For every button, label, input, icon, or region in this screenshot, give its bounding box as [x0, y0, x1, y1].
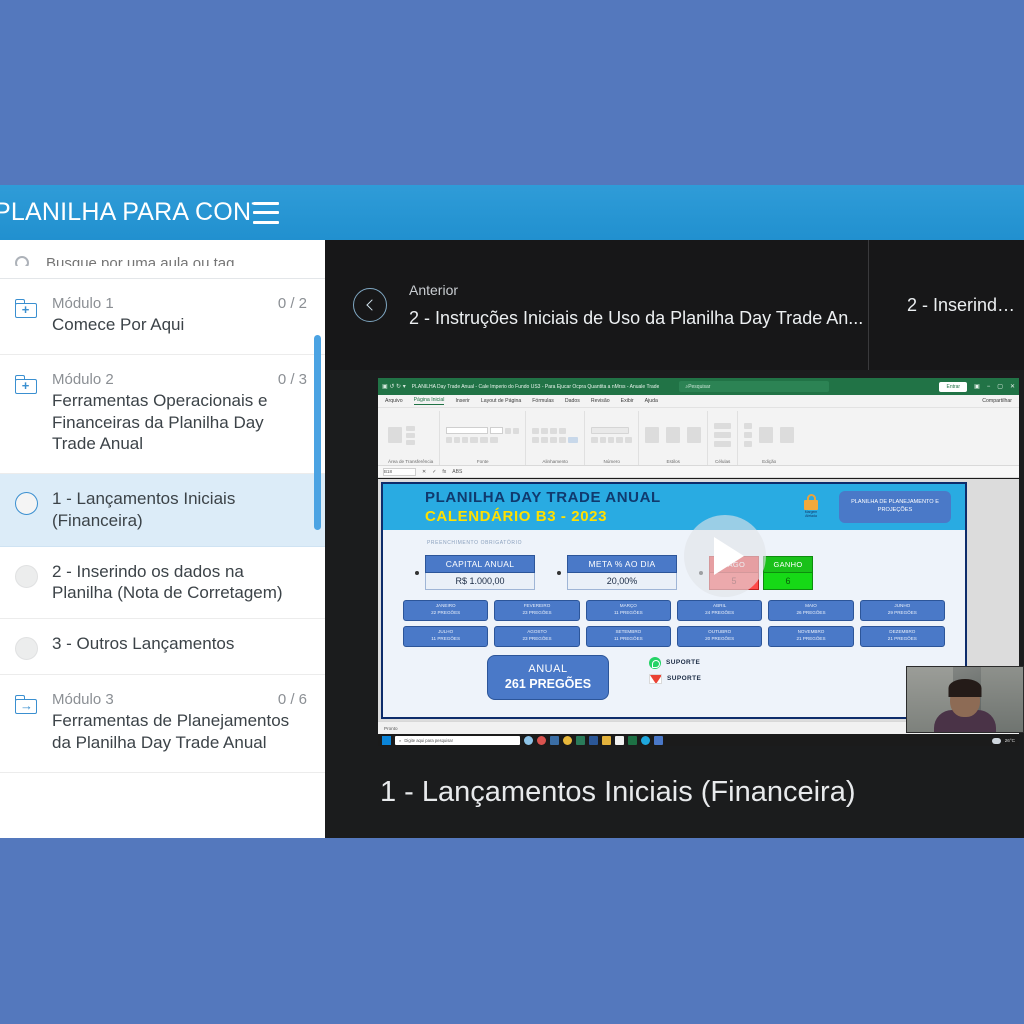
- fill-color-icon[interactable]: [480, 437, 488, 443]
- month-sessions: 21 PREGÕES: [769, 636, 852, 643]
- search-icon: ⌕: [399, 738, 401, 743]
- group-label: Área de Transferência: [388, 459, 433, 465]
- format-painter-icon[interactable]: [406, 440, 415, 445]
- share-button[interactable]: Compartilhar: [982, 398, 1012, 404]
- module-label: Módulo 2: [52, 371, 114, 388]
- module-count: 0 / 2: [270, 295, 307, 312]
- decrease-decimal-icon[interactable]: [625, 437, 632, 443]
- support-label: SUPORTE: [666, 659, 700, 666]
- spreadsheet-title: PLANILHA DAY TRADE ANUAL: [425, 489, 801, 506]
- group-label: Alinhamento: [532, 459, 578, 465]
- quick-access-toolbar[interactable]: ▣ ↺ ↻ ▾: [382, 383, 406, 390]
- sort-filter-icon[interactable]: [759, 427, 773, 443]
- previous-label: Anterior: [409, 282, 863, 298]
- kpi-value: 20,00%: [567, 573, 677, 590]
- group-label: Fonte: [446, 459, 519, 465]
- month-grid: JANEIRO22 PREGÕES FEVEREIRO23 PREGÕES MA…: [397, 600, 951, 647]
- lesson-title-heading: 1 - Lançamentos Iniciais (Financeira): [325, 746, 1024, 838]
- module-title: Comece Por Aqui: [52, 314, 307, 336]
- sidebar-panel: PLANILHA PARA CONTI + Módulo 1 0 / 2: [0, 185, 325, 838]
- lock-icon: Margem Afetada: [801, 494, 821, 520]
- month-name: JANEIRO: [404, 603, 487, 610]
- taskbar-search-input[interactable]: ⌕ Digite aqui para pesquisar: [395, 736, 520, 745]
- signin-button[interactable]: Entrar: [939, 382, 967, 392]
- gmail-icon: [649, 674, 662, 684]
- month-box: FEVEREIRO23 PREGÕES: [494, 600, 579, 621]
- spreadsheet-dashboard: PLANILHA DAY TRADE ANUAL CALENDÁRIO B3 -…: [381, 482, 967, 719]
- module-count: 0 / 6: [270, 691, 307, 708]
- previous-lesson-title: 2 - Instruções Iniciais de Uso da Planil…: [409, 308, 863, 329]
- kpi-label: CAPITAL ANUAL: [425, 555, 535, 573]
- circle-icon: [0, 561, 52, 588]
- month-sessions: 23 PREGÕES: [495, 610, 578, 617]
- cloud-icon: [992, 738, 1001, 744]
- cut-icon[interactable]: [406, 426, 415, 431]
- bullet-icon: [415, 571, 419, 575]
- explorer-pin-icon[interactable]: [550, 736, 559, 745]
- ribbon-group-alignment[interactable]: Alinhamento: [526, 411, 585, 465]
- ribbon-group-editing[interactable]: Edição: [738, 411, 800, 465]
- sidebar-lesson-3[interactable]: 3 - Outros Lançamentos: [0, 619, 325, 675]
- month-name: ABRIL: [678, 603, 761, 610]
- align-top-icon[interactable]: [532, 428, 539, 434]
- ribbon-group-clipboard[interactable]: Área de Transferência: [382, 411, 440, 465]
- annual-label: ANUAL: [488, 663, 608, 675]
- ribbon-group-cells[interactable]: Células: [708, 411, 738, 465]
- align-middle-icon[interactable]: [541, 428, 548, 434]
- month-name: DEZEMBRO: [861, 629, 944, 636]
- status-text: Pronto: [384, 726, 398, 731]
- month-name: NOVEMBRO: [769, 629, 852, 636]
- group-label: Estilos: [645, 459, 701, 465]
- month-sessions: 11 PREGÕES: [404, 636, 487, 643]
- group-label: Edição: [744, 459, 794, 465]
- group-label: Número: [591, 459, 632, 465]
- excel-search-placeholder: Pesquisar: [688, 384, 710, 390]
- format-as-table-icon[interactable]: [666, 427, 680, 443]
- formula-input[interactable]: ABS: [452, 469, 462, 475]
- month-name: AGOSTO: [495, 629, 578, 636]
- support-label: SUPORTE: [667, 675, 701, 682]
- enter-icon[interactable]: ✓: [432, 469, 436, 475]
- excel-taskbar-icon[interactable]: [576, 736, 585, 745]
- planning-button[interactable]: PLANILHA DE PLANEJAMENTO E PROJEÇÕES: [839, 491, 951, 523]
- lesson-title: 3 - Outros Lançamentos: [52, 633, 307, 655]
- previous-lesson-button[interactable]: Anterior 2 - Instruções Iniciais de Uso …: [325, 240, 869, 370]
- month-name: OUTUBRO: [678, 629, 761, 636]
- gmail-support-link[interactable]: SUPORTE: [649, 674, 701, 684]
- kpi-label: GANHO: [763, 556, 813, 573]
- module-title: Ferramentas de Planejamentos da Planilha…: [52, 710, 307, 754]
- whatsapp-icon: [649, 657, 661, 669]
- tab-inserir[interactable]: Inserir: [455, 398, 469, 404]
- lesson-title: 2 - Inserindo os dados na Planilha (Nota…: [52, 561, 307, 605]
- font-size-input[interactable]: [490, 427, 503, 434]
- bullet-icon: [557, 571, 561, 575]
- excel-formula-bar[interactable]: B18 ✕ ✓ fx ABS: [378, 466, 1019, 478]
- next-lesson-button[interactable]: 2 - Inserindo os: [869, 240, 1024, 370]
- tab-formulas[interactable]: Fórmulas: [532, 398, 554, 404]
- merge-cells-icon[interactable]: [568, 437, 578, 443]
- module-count: 0 / 3: [270, 371, 307, 388]
- italic-icon[interactable]: [454, 437, 460, 443]
- month-box: NOVEMBRO21 PREGÕES: [768, 626, 853, 647]
- insert-function-icon[interactable]: fx: [442, 469, 446, 475]
- percent-icon[interactable]: [600, 437, 606, 443]
- course-player-window: PLANILHA PARA CONTI + Módulo 1 0 / 2: [0, 185, 1024, 838]
- whatsapp-support-link[interactable]: SUPORTE: [649, 657, 701, 669]
- format-cells-icon[interactable]: [714, 441, 731, 447]
- excel-ribbon-tabs[interactable]: Arquivo Página Inicial Inserir Layout de…: [378, 395, 1019, 408]
- folder-taskbar-icon[interactable]: [602, 736, 611, 745]
- month-name: MARÇO: [587, 603, 670, 610]
- align-left-icon[interactable]: [532, 437, 539, 443]
- month-sessions: 24 PREGÕES: [678, 610, 761, 617]
- kpi-value: R$ 1.000,00: [425, 573, 535, 590]
- insert-cells-icon[interactable]: [714, 423, 731, 429]
- system-tray[interactable]: 26°C: [992, 738, 1015, 744]
- store-icon[interactable]: [654, 736, 663, 745]
- number-format-select[interactable]: [591, 427, 629, 434]
- month-box: SETEMBRO11 PREGÕES: [586, 626, 671, 647]
- month-sessions: 20 PREGÕES: [678, 636, 761, 643]
- tab-layout-de-pagina[interactable]: Layout de Página: [481, 398, 521, 404]
- annual-value: 261 PREGÕES: [488, 677, 608, 691]
- month-sessions: 26 PREGÕES: [769, 610, 852, 617]
- delete-cells-icon[interactable]: [714, 432, 731, 438]
- kpi-ganho: GANHO 6: [763, 556, 813, 590]
- ribbon-group-font[interactable]: Fonte: [440, 411, 526, 465]
- spreadsheet-header: PLANILHA DAY TRADE ANUAL CALENDÁRIO B3 -…: [383, 484, 965, 530]
- month-name: MAIO: [769, 603, 852, 610]
- name-box[interactable]: B18: [383, 468, 416, 476]
- autosum-icon[interactable]: [744, 423, 752, 429]
- lesson-navigation: Anterior 2 - Instruções Iniciais de Uso …: [325, 240, 1024, 370]
- circle-icon: [0, 633, 52, 660]
- webcam-overlay: [906, 666, 1024, 733]
- excel-titlebar: ▣ ↺ ↻ ▾ PLANILHA Day Trade Anual - Cale …: [378, 378, 1019, 395]
- align-center-icon[interactable]: [541, 437, 548, 443]
- word-taskbar-icon[interactable]: [589, 736, 598, 745]
- pdf-taskbar-icon[interactable]: [615, 736, 624, 745]
- module-label: Módulo 3: [52, 691, 114, 708]
- close-icon[interactable]: ✕: [1010, 383, 1015, 390]
- weather-widget-icon[interactable]: [524, 736, 533, 745]
- kpi-value: 6: [763, 573, 813, 590]
- align-bottom-icon[interactable]: [550, 428, 557, 434]
- month-box: OUTUBRO20 PREGÕES: [677, 626, 762, 647]
- annual-total-box: ANUAL 261 PREGÕES: [487, 655, 609, 700]
- tab-exibir[interactable]: Exibir: [621, 398, 634, 404]
- edge-icon[interactable]: [641, 736, 650, 745]
- month-name: JULHO: [404, 629, 487, 636]
- tab-ajuda[interactable]: Ajuda: [645, 398, 658, 404]
- hamburger-icon[interactable]: [253, 202, 279, 224]
- tab-arquivo[interactable]: Arquivo: [385, 398, 403, 404]
- circle-outline-icon: [0, 488, 52, 515]
- conditional-formatting-icon[interactable]: [645, 427, 659, 443]
- tab-pagina-inicial[interactable]: Página Inicial: [414, 397, 445, 405]
- folder-plus-icon: +: [0, 371, 52, 394]
- decrease-font-icon[interactable]: [513, 428, 519, 434]
- month-name: SETEMBRO: [587, 629, 670, 636]
- sidebar-module-1[interactable]: + Módulo 1 0 / 2 Comece Por Aqui: [0, 279, 325, 355]
- lock-caption: Margem Afetada: [801, 511, 821, 518]
- month-box: AGOSTO23 PREGÕES: [494, 626, 579, 647]
- app-header: PLANILHA PARA CONTI: [0, 185, 325, 240]
- player-panel: Anterior 2 - Instruções Iniciais de Uso …: [325, 185, 1024, 838]
- excel-document-title: PLANILHA Day Trade Anual - Cale Imperio …: [412, 384, 660, 390]
- indent-icon[interactable]: [559, 437, 566, 443]
- next-lesson-title: 2 - Inserindo os: [907, 295, 1024, 316]
- sidebar-lesson-1[interactable]: 1 - Lançamentos Iniciais (Financeira): [0, 474, 325, 547]
- kpi-meta-dia: META % AO DIA 20,00%: [567, 555, 677, 590]
- cell-styles-icon[interactable]: [687, 427, 701, 443]
- support-links[interactable]: SUPORTE SUPORTE: [649, 657, 701, 689]
- month-name: JUNHO: [861, 603, 944, 610]
- tab-revisao[interactable]: Revisão: [591, 398, 610, 404]
- copy-icon[interactable]: [406, 433, 415, 438]
- search-icon: [14, 255, 30, 266]
- ribbon-group-styles[interactable]: Estilos: [639, 411, 708, 465]
- fill-icon[interactable]: [744, 432, 752, 438]
- comma-icon[interactable]: [608, 437, 614, 443]
- month-box: JUNHO29 PREGÕES: [860, 600, 945, 621]
- module-label: Módulo 1: [52, 295, 114, 312]
- account-icon[interactable]: ▣: [974, 383, 980, 390]
- orientation-icon[interactable]: [559, 428, 566, 434]
- font-name-input[interactable]: [446, 427, 488, 434]
- kpi-capital-anual: CAPITAL ANUAL R$ 1.000,00: [425, 555, 535, 590]
- month-box: JANEIRO22 PREGÕES: [403, 600, 488, 621]
- folder-plus-icon: +: [0, 295, 52, 318]
- play-icon[interactable]: [684, 515, 766, 597]
- windows-start-icon[interactable]: [382, 736, 391, 745]
- kpi-row: CAPITAL ANUAL R$ 1.000,00 META % AO DIA …: [397, 555, 951, 590]
- page-title: PLANILHA PARA CONTI: [0, 198, 253, 227]
- month-box: MAIO26 PREGÕES: [768, 600, 853, 621]
- month-sessions: 11 PREGÕES: [587, 610, 670, 617]
- lesson-list[interactable]: + Módulo 1 0 / 2 Comece Por Aqui +: [0, 279, 325, 838]
- chevron-left-icon: [353, 288, 387, 322]
- search-input[interactable]: [46, 255, 313, 266]
- weather-temperature: 26°C: [1005, 738, 1015, 743]
- sidebar-lesson-2[interactable]: 2 - Inserindo os dados na Planilha (Nota…: [0, 547, 325, 620]
- month-sessions: 21 PREGÕES: [861, 636, 944, 643]
- month-sessions: 23 PREGÕES: [495, 636, 578, 643]
- month-sessions: 22 PREGÕES: [404, 610, 487, 617]
- excel-ribbon[interactable]: Área de Transferência: [378, 408, 1019, 466]
- lesson-title: 1 - Lançamentos Iniciais (Financeira): [52, 488, 307, 532]
- folder-arrow-icon: →: [0, 691, 52, 714]
- underline-icon[interactable]: [462, 437, 468, 443]
- currency-icon[interactable]: [591, 437, 598, 443]
- month-box: JULHO11 PREGÕES: [403, 626, 488, 647]
- tab-dados[interactable]: Dados: [565, 398, 580, 404]
- sidebar-module-3[interactable]: → Módulo 3 0 / 6 Ferramentas de Planejam…: [0, 675, 325, 773]
- month-box: MARÇO11 PREGÕES: [586, 600, 671, 621]
- borders-icon[interactable]: [470, 437, 478, 443]
- month-sessions: 29 PREGÕES: [861, 610, 944, 617]
- paste-icon[interactable]: [388, 427, 402, 443]
- module-title: Ferramentas Operacionais e Financeiras d…: [52, 390, 307, 455]
- sidebar-scrollbar[interactable]: [314, 335, 321, 530]
- video-area[interactable]: ▣ ↺ ↻ ▾ PLANILHA Day Trade Anual - Cale …: [325, 370, 1024, 838]
- cancel-icon[interactable]: ✕: [422, 469, 426, 475]
- month-sessions: 11 PREGÕES: [587, 636, 670, 643]
- bold-icon[interactable]: [446, 437, 452, 443]
- font-color-icon[interactable]: [490, 437, 498, 443]
- group-label: Células: [714, 459, 731, 465]
- align-right-icon[interactable]: [550, 437, 557, 443]
- taskbar-search-placeholder: Digite aqui para pesquisar: [404, 738, 453, 743]
- spreadsheet-body: PREENCHIMENTO OBRIGATÓRIO CAPITAL ANUAL …: [383, 530, 965, 717]
- increase-font-icon[interactable]: [505, 428, 511, 434]
- chrome-icon[interactable]: [563, 736, 572, 745]
- kpi-label: META % AO DIA: [567, 555, 677, 573]
- ribbon-group-number[interactable]: Número: [585, 411, 639, 465]
- minimize-icon[interactable]: −: [987, 384, 991, 390]
- month-box: DEZEMBRO21 PREGÕES: [860, 626, 945, 647]
- window-controls[interactable]: Entrar ▣ − ▢ ✕: [939, 382, 1015, 392]
- excel-active-icon[interactable]: [628, 736, 637, 745]
- maximize-icon[interactable]: ▢: [997, 383, 1003, 390]
- increase-decimal-icon[interactable]: [616, 437, 623, 443]
- month-name: FEVEREIRO: [495, 603, 578, 610]
- opera-icon[interactable]: [537, 736, 546, 745]
- excel-search-box[interactable]: ⌕ Pesquisar: [679, 381, 829, 392]
- search-bar[interactable]: [0, 240, 325, 266]
- sidebar-module-2[interactable]: + Módulo 2 0 / 3 Ferramentas Operacionai…: [0, 355, 325, 474]
- player-topbar: [325, 185, 1024, 240]
- month-box: ABRIL24 PREGÕES: [677, 600, 762, 621]
- find-select-icon[interactable]: [780, 427, 794, 443]
- clear-icon[interactable]: [744, 441, 752, 447]
